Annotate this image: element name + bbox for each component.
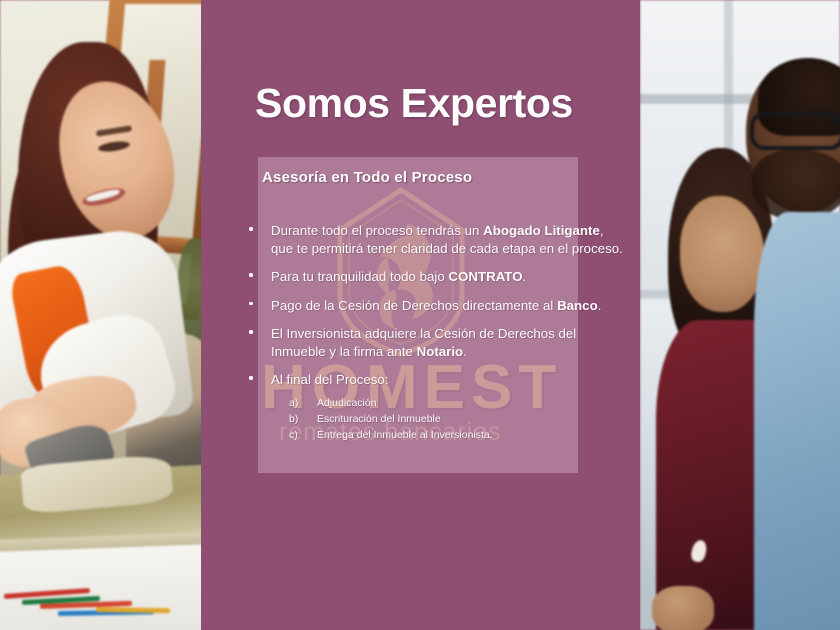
right-photo-layers [640,0,840,630]
bullet-segment: Para tu tranquilidad todo bajo [271,269,448,284]
bullet-item: El Inversionista adquiere la Cesión de D… [243,325,623,360]
right-photo-man-beard [752,150,840,220]
bullet-item: Durante todo el proceso tendrás un Aboga… [243,222,623,257]
photo-woman-at-table [0,0,201,630]
slide-title: Somos Expertos [255,83,625,124]
bullet-segment: Pago de la Cesión de Derechos directamen… [271,298,557,313]
sublist-item-text: Escrituración del Inmueble [317,413,441,425]
presentation-slide: HOMEST remates bancarios Somos Expertos … [0,0,840,630]
right-photo-eyeglasses-icon [750,112,840,150]
sublist-item-label: b) [289,411,313,427]
bullet-item: Al final del Proceso:a)Adjudicaciónb)Esc… [243,371,623,443]
sublist-item-text: Entrega del Inmueble al Inversionista. [317,429,493,441]
right-photo-man-denim-shirt [754,212,840,630]
bullet-text: Pago de la Cesión de Derechos directamen… [271,298,601,313]
content-box-heading: Asesoría en Todo el Proceso [258,169,572,186]
bullet-segment: Durante todo el proceso tendrás un [271,223,483,238]
bullet-dot-icon [249,302,253,306]
sublist-item-text: Adjudicación [317,397,377,409]
photo-two-people-by-window [640,0,840,630]
bullet-sublist: a)Adjudicaciónb)Escrituración del Inmueb… [271,395,623,444]
bullet-segment: . [523,269,527,284]
bullet-dot-icon [249,330,253,334]
right-photo-woman-hands [652,586,714,630]
bullet-segment: Al final del Proceso: [271,372,389,387]
left-photo-papers [0,544,201,630]
bullet-dot-icon [249,227,253,231]
left-photo-layers [0,0,201,630]
sublist-item: b)Escrituración del Inmueble [271,411,623,427]
sublist-item: c)Entrega del Inmueble al Inversionista. [271,427,623,443]
bullet-text: Durante todo el proceso tendrás un Aboga… [271,223,623,256]
bullet-emphasis: Abogado Litigante [483,223,600,238]
bullet-segment: . [598,298,602,313]
bullet-emphasis: CONTRATO [448,269,522,284]
bullet-text: Para tu tranquilidad todo bajo CONTRATO. [271,269,526,284]
bullet-segment: . [463,344,467,359]
bullet-emphasis: Notario [417,344,464,359]
bullet-emphasis: Banco [557,298,598,313]
bullet-dot-icon [249,376,253,380]
bullet-list: Durante todo el proceso tendrás un Aboga… [243,222,623,455]
bullet-item: Pago de la Cesión de Derechos directamen… [243,297,623,315]
sublist-item-label: c) [289,427,313,443]
bullet-text: Al final del Proceso: [271,372,389,387]
bullet-text: El Inversionista adquiere la Cesión de D… [271,326,576,359]
sublist-item-label: a) [289,395,313,411]
right-photo-woman-face [680,196,764,312]
content-panel: HOMEST remates bancarios Somos Expertos … [201,0,640,630]
bullet-dot-icon [249,273,253,277]
bullet-item: Para tu tranquilidad todo bajo CONTRATO. [243,268,623,286]
sublist-item: a)Adjudicación [271,395,623,411]
